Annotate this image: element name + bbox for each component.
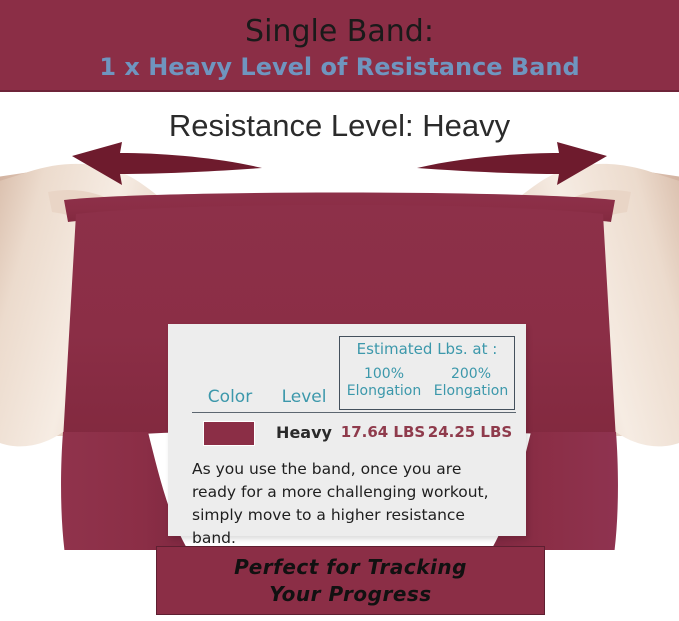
table-header-divider bbox=[192, 412, 516, 413]
footer-line-1: Perfect for Tracking bbox=[157, 554, 544, 581]
estimated-lbs-group: Estimated Lbs. at : 100% Elongation 200%… bbox=[339, 336, 515, 410]
column-header-level: Level bbox=[272, 387, 336, 407]
page-subtitle-band-count: 1 x Heavy Level of Resistance Band bbox=[0, 53, 679, 81]
cell-100-elongation-value: 17.64 LBS bbox=[340, 423, 426, 441]
band-color-swatch bbox=[203, 421, 255, 446]
usage-note: As you use the band, once you are ready … bbox=[192, 458, 510, 550]
header-banner: Single Band: 1 x Heavy Level of Resistan… bbox=[0, 0, 679, 92]
column-header-color: Color bbox=[192, 387, 268, 407]
estimated-lbs-header: Estimated Lbs. at : bbox=[340, 340, 514, 358]
resistance-table: Estimated Lbs. at : 100% Elongation 200%… bbox=[168, 324, 526, 454]
resistance-info-panel: Estimated Lbs. at : 100% Elongation 200%… bbox=[168, 324, 526, 536]
cell-level-value: Heavy bbox=[272, 423, 336, 442]
column-header-200-elongation: 200% Elongation bbox=[428, 366, 514, 400]
footer-line-2: Your Progress bbox=[157, 581, 544, 608]
footer-banner: Perfect for Tracking Your Progress bbox=[156, 546, 545, 615]
column-header-100-line2: Elongation bbox=[347, 383, 421, 399]
column-header-200-line1: 200% bbox=[451, 366, 491, 382]
resistance-level-heading: Resistance Level: Heavy bbox=[0, 108, 679, 144]
cell-200-elongation-value: 24.25 LBS bbox=[427, 423, 513, 441]
product-infographic: Single Band: 1 x Heavy Level of Resistan… bbox=[0, 0, 679, 621]
page-title: Single Band: bbox=[0, 14, 679, 49]
column-header-100-elongation: 100% Elongation bbox=[341, 366, 427, 400]
column-header-100-line1: 100% bbox=[364, 366, 404, 382]
column-header-200-line2: Elongation bbox=[434, 383, 508, 399]
